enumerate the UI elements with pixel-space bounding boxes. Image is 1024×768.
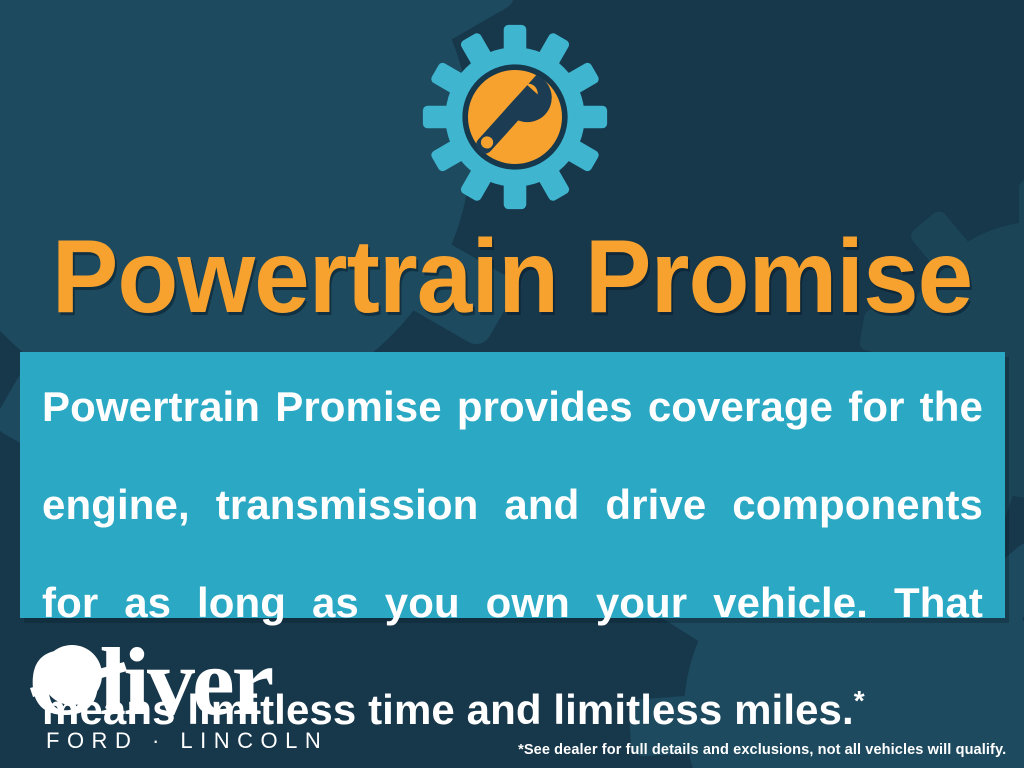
description-line-1: Powertrain Promise provides coverage for… [42,383,983,430]
powertrain-promise-graphic: Powertrain Promise Powertrain Promise pr… [0,0,1024,768]
description-panel: Powertrain Promise provides coverage for… [20,352,1005,618]
footnote-marker: * [854,685,865,716]
oliver-logo-subtitle: FORD · LINCOLN [46,728,328,754]
description-line-3: for as long as you own your vehicle. Tha… [42,579,983,626]
gear-wrench-icon [421,22,609,212]
oliver-logo: Oliver FORD · LINCOLN [28,638,328,756]
page-title: Powertrain Promise [20,222,1003,332]
disclaimer-text: *See dealer for full details and exclusi… [518,741,1006,758]
oliver-wordmark: Oliver [28,638,328,730]
description-line-2: engine, transmission and drive component… [42,481,983,528]
